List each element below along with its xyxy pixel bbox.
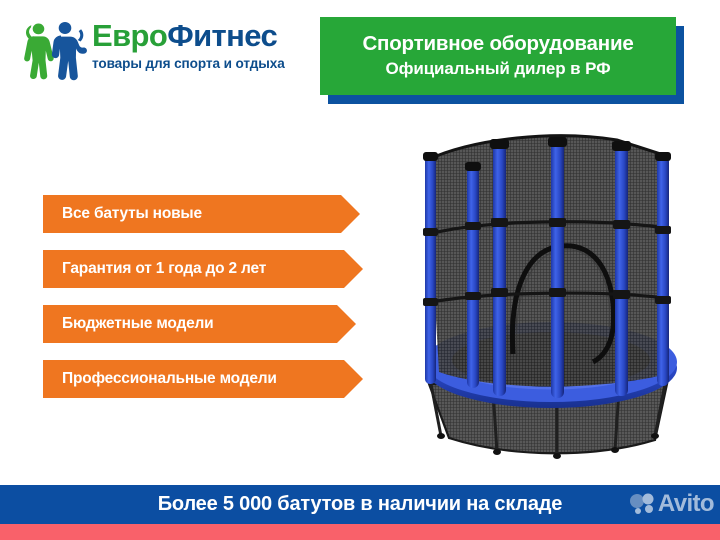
brand-logo: ЕвроФитнес товары для спорта и отдыха [18,18,318,90]
feature-label-3: Бюджетные модели [43,315,214,333]
feature-label-1: Все батуты новые [43,205,202,223]
header-banner-title: Спортивное оборудование [362,31,633,57]
feature-arrow-1: Все батуты новые [43,195,360,233]
brand-name-part-1: Евро [92,18,167,53]
feature-list: Все батуты новые Гарантия от 1 года до 2… [43,195,363,398]
feature-arrow-4: Профессиональные модели [43,360,363,398]
avito-watermark: Avito [630,489,714,519]
feature-arrow-2: Гарантия от 1 года до 2 лет [43,250,363,288]
feature-arrow-3: Бюджетные модели [43,305,356,343]
brand-wordmark: ЕвроФитнес товары для спорта и отдыха [92,18,318,73]
bottom-banner-text: Более 5 000 батутов в наличии на складе [158,493,562,516]
header-banner: Спортивное оборудование Официальный диле… [320,17,676,95]
brand-name-part-2: Фитнес [167,18,277,53]
trampoline-with-safety-net: Unix [405,122,705,472]
brand-tagline: товары для спорта и отдыха [92,55,318,73]
bottom-accent-strip [0,524,720,540]
two-fitness-figures-icon [18,20,90,82]
feature-label-4: Профессиональные модели [43,370,277,388]
avito-wordmark: Avito [658,492,714,516]
feature-label-2: Гарантия от 1 года до 2 лет [43,260,266,278]
avito-dots-icon [630,492,656,516]
header-banner-face: Спортивное оборудование Официальный диле… [320,17,676,95]
brand-name: ЕвроФитнес [92,18,318,54]
bottom-banner: Более 5 000 батутов в наличии на складе … [0,485,720,524]
header-banner-subtitle: Официальный дилер в РФ [385,57,610,81]
